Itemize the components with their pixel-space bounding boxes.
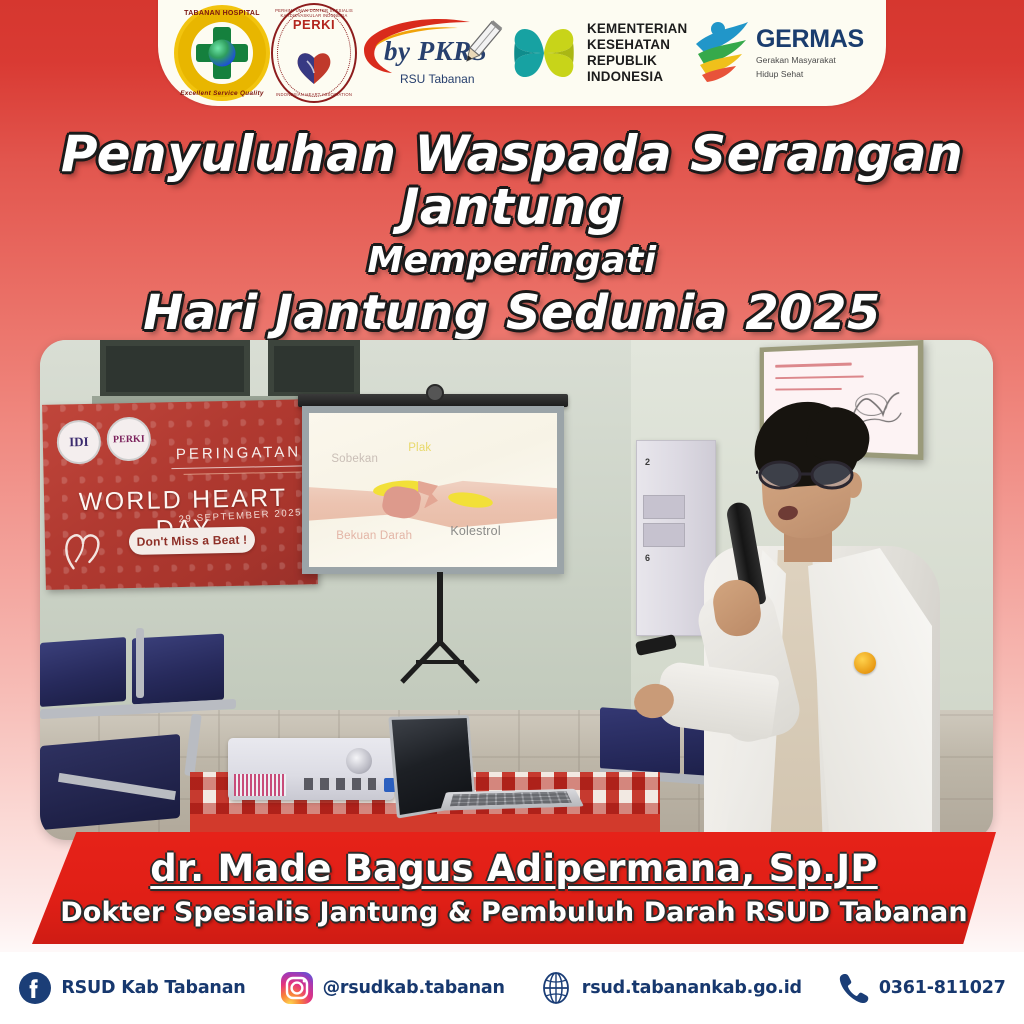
perki-logo-icon: PERKI [106, 417, 151, 462]
poster-root: TABANAN HOSPITAL Excellent Service Quali… [0, 0, 1024, 1024]
slide-label-bekuan-darah: Bekuan Darah [336, 530, 412, 542]
instagram-icon[interactable] [280, 971, 314, 1005]
footer-facebook-text: RSUD Kab Tabanan [61, 978, 245, 998]
logo-slot-pkrs: by PKRS RSU Tabanan [358, 10, 508, 96]
perki-logo: PERHIMPUNAN DOKTER SPESIALIS KARDIOVASKU… [271, 3, 357, 103]
logo-slot-perki: PERHIMPUNAN DOKTER SPESIALIS KARDIOVASKU… [271, 3, 357, 103]
banner-rule-2 [184, 471, 302, 474]
banner-heading: PERINGATAN [176, 443, 302, 463]
globe-icon[interactable] [539, 971, 573, 1005]
projector-screen-knob [426, 384, 444, 402]
perki-text-bottom: INDONESIAN HEART ASSOCIATION [271, 92, 357, 97]
waiting-bench-left [40, 630, 250, 748]
kemenkes-mark-icon [509, 16, 579, 90]
pkrs-logo: by PKRS RSU Tabanan [358, 10, 508, 96]
lapel-pin-icon [854, 652, 876, 674]
logo-slot-tabanan: TABANAN HOSPITAL Excellent Service Quali… [174, 5, 270, 101]
event-photo: IDI PERKI PERINGATAN WORLD HEART DAY 29 … [40, 340, 993, 840]
footer-item-phone[interactable]: 0361-811027 [836, 971, 1006, 1005]
germas-subtitle-1: Gerakan Masyarakat [756, 55, 864, 65]
kemenkes-line-4: INDONESIA [587, 69, 687, 85]
facebook-icon[interactable] [18, 971, 52, 1005]
footer-item-instagram[interactable]: @rsudkab.tabanan [280, 971, 505, 1005]
slide-label-kolestrol: Kolestrol [450, 524, 500, 538]
bench-divider [136, 628, 144, 698]
title-block: Penyuluhan Waspada Serangan Jantung Memp… [0, 128, 1024, 341]
kemenkes-text-block: KEMENTERIAN KESEHATAN REPUBLIK INDONESIA [587, 21, 687, 85]
poster-title-middle: Memperingati [0, 238, 1024, 285]
footer-item-facebook[interactable]: RSUD Kab Tabanan [18, 971, 245, 1005]
device-box-label-top: 2 [645, 457, 650, 467]
germas-figure-icon [694, 18, 752, 88]
poster-title-main: Penyuluhan Waspada Serangan Jantung [0, 128, 1024, 234]
speaker-name: dr. Made Bagus Adipermana, Sp.JP [150, 848, 877, 889]
device-box-label-bottom: 6 [645, 553, 650, 563]
world-heart-day-banner: IDI PERKI PERINGATAN WORLD HEART DAY 29 … [42, 399, 318, 590]
poster-title-sub: Hari Jantung Sedunia 2025 [0, 287, 1024, 341]
photo-scene: IDI PERKI PERINGATAN WORLD HEART DAY 29 … [40, 340, 993, 840]
presentation-slide: Sobekan Plak Bekuan Darah Kolestrol [309, 413, 557, 567]
projector-device [228, 738, 394, 800]
slide-label-plak: Plak [408, 442, 431, 454]
window-right [268, 340, 360, 398]
tabanan-hospital-logo: TABANAN HOSPITAL Excellent Service Quali… [174, 5, 270, 101]
projector-vent [234, 774, 286, 796]
idi-logo-icon: IDI [56, 420, 101, 465]
speaker-figure [658, 398, 958, 840]
kemenkes-line-2: KESEHATAN [587, 37, 687, 53]
logo-slot-kemenkes: KEMENTERIAN KESEHATAN REPUBLIK INDONESIA [509, 11, 693, 95]
kemenkes-logo: KEMENTERIAN KESEHATAN REPUBLIK INDONESIA [509, 11, 693, 95]
header-logo-panel: TABANAN HOSPITAL Excellent Service Quali… [158, 0, 886, 106]
logo-slot-germas: GERMAS Gerakan Masyarakat Hidup Sehat [694, 13, 870, 93]
phone-icon[interactable] [836, 971, 870, 1005]
germas-logo: GERMAS Gerakan Masyarakat Hidup Sehat [694, 13, 870, 93]
footer-phone-text: 0361-811027 [879, 978, 1006, 998]
contact-footer: RSUD Kab Tabanan @rsudkab.ta [0, 952, 1024, 1024]
kemenkes-line-3: REPUBLIK [587, 53, 687, 69]
screen-tripod [392, 572, 488, 684]
window-left [100, 340, 250, 398]
certificate-line-1 [775, 363, 852, 368]
projector-lens-icon [346, 748, 372, 774]
banner-tagline: Don't Miss a Beat ! [129, 526, 256, 555]
bench-seat-2 [132, 634, 224, 705]
tabanan-logo-text-top: TABANAN HOSPITAL [174, 10, 270, 17]
pencil-icon [458, 18, 504, 70]
banner-rule-1 [171, 465, 303, 469]
footer-website-text: rsud.tabanankab.go.id [582, 978, 802, 998]
germas-text-block: GERMAS Gerakan Masyarakat Hidup Sehat [756, 27, 864, 78]
bench-seat-1 [40, 637, 126, 707]
perki-title: PERKI [271, 17, 357, 32]
certificate-line-3 [775, 388, 842, 391]
kemenkes-line-1: KEMENTERIAN [587, 21, 687, 37]
pkrs-subtitle: RSU Tabanan [400, 72, 475, 86]
tabanan-logo-text-bottom: Excellent Service Quality [174, 90, 270, 97]
eyeglasses-icon [756, 460, 862, 490]
projector-screen: Sobekan Plak Bekuan Darah Kolestrol [302, 406, 564, 574]
laptop-keyboard [450, 791, 572, 806]
germas-subtitle-2: Hidup Sehat [756, 69, 864, 79]
heart-icon [294, 47, 334, 87]
globe-icon [209, 40, 236, 67]
speaker-name-banner: dr. Made Bagus Adipermana, Sp.JP Dokter … [32, 832, 996, 944]
germas-title: GERMAS [756, 27, 864, 52]
speaker-role: Dokter Spesialis Jantung & Pembuluh Dara… [60, 897, 967, 928]
projector-ports [304, 778, 376, 790]
slide-label-sobekan: Sobekan [331, 453, 378, 465]
footer-instagram-text: @rsudkab.tabanan [323, 978, 505, 998]
footer-item-website[interactable]: rsud.tabanankab.go.id [539, 971, 802, 1005]
heart-doodle-icon [59, 521, 112, 574]
